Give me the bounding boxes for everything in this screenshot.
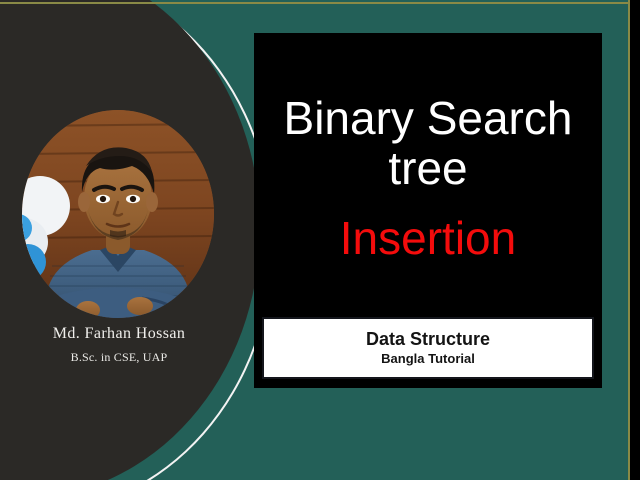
- title-slide: Md. Farhan Hossan B.Sc. in CSE, UAP Bina…: [0, 0, 640, 480]
- title-text-group: Binary Search tree Insertion: [254, 33, 602, 323]
- title-line-1: Binary Search: [284, 94, 573, 142]
- title-line-2: tree: [388, 144, 467, 192]
- course-subtitle: Bangla Tutorial: [381, 352, 475, 367]
- presenter-name: Md. Farhan Hossan: [0, 325, 238, 343]
- title-panel: Binary Search tree Insertion Data Struct…: [254, 33, 602, 388]
- presenter-photo: [22, 110, 214, 318]
- course-title: Data Structure: [366, 329, 490, 350]
- title-highlight: Insertion: [340, 214, 516, 262]
- top-accent-rule: [0, 2, 629, 4]
- right-black-edge: [630, 0, 640, 480]
- caption-card: Data Structure Bangla Tutorial: [262, 317, 594, 379]
- presenter-credentials: B.Sc. in CSE, UAP: [0, 350, 238, 365]
